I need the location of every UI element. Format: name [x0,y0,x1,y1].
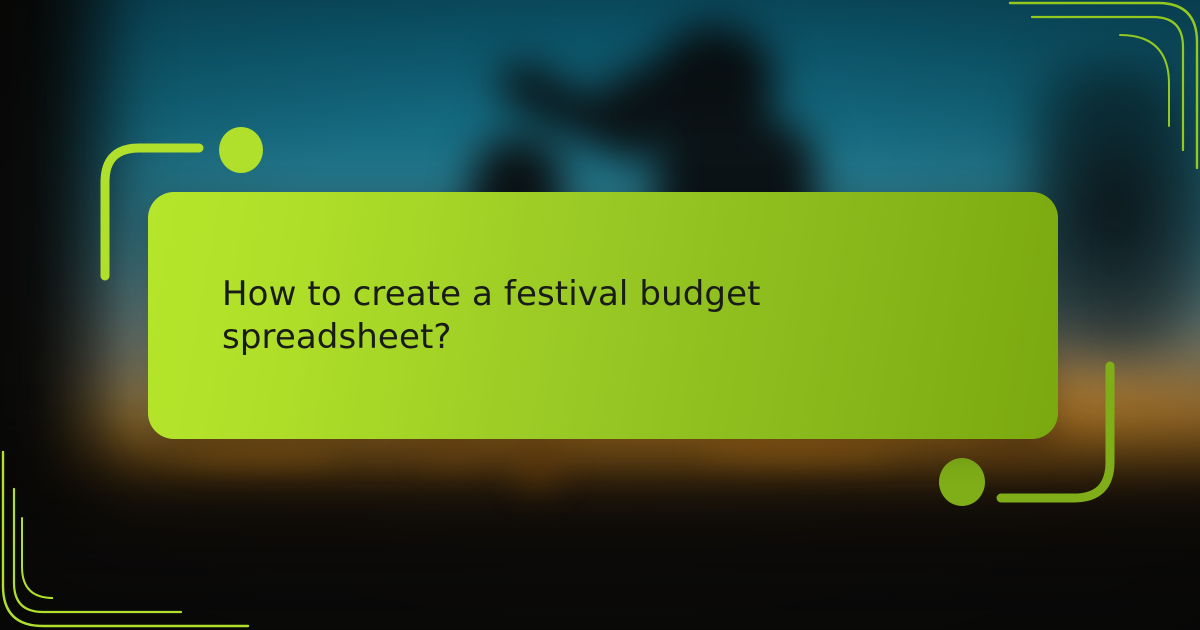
share-card-canvas: How to create a festival budget spreadsh… [0,0,1200,630]
headline-card[interactable]: How to create a festival budget spreadsh… [148,192,1058,439]
page-title: How to create a festival budget spreadsh… [148,273,1058,358]
top-left-dot [219,127,263,173]
bottom-right-dot [939,458,985,506]
